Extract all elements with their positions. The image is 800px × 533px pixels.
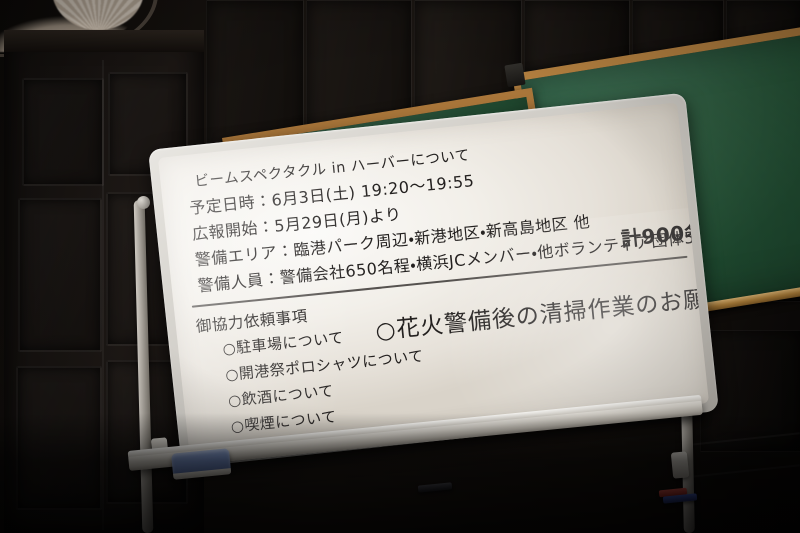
door-header (4, 30, 204, 52)
photo-scene: ビームスペクタクル in ハーバーについて 予定日時：6月3日(土) 19:20… (0, 0, 800, 533)
tray-bracket-right (671, 451, 689, 478)
whiteboard-eraser[interactable] (171, 448, 231, 476)
highlight-note: ○花火警備後の清掃作業のお願い (374, 277, 709, 346)
door-panel (16, 366, 102, 510)
door-panel (22, 78, 104, 186)
door-panel (18, 198, 102, 352)
chalkboard-end-cap (504, 63, 525, 88)
door-mullion (102, 60, 104, 530)
stand-cap-left (137, 196, 150, 209)
